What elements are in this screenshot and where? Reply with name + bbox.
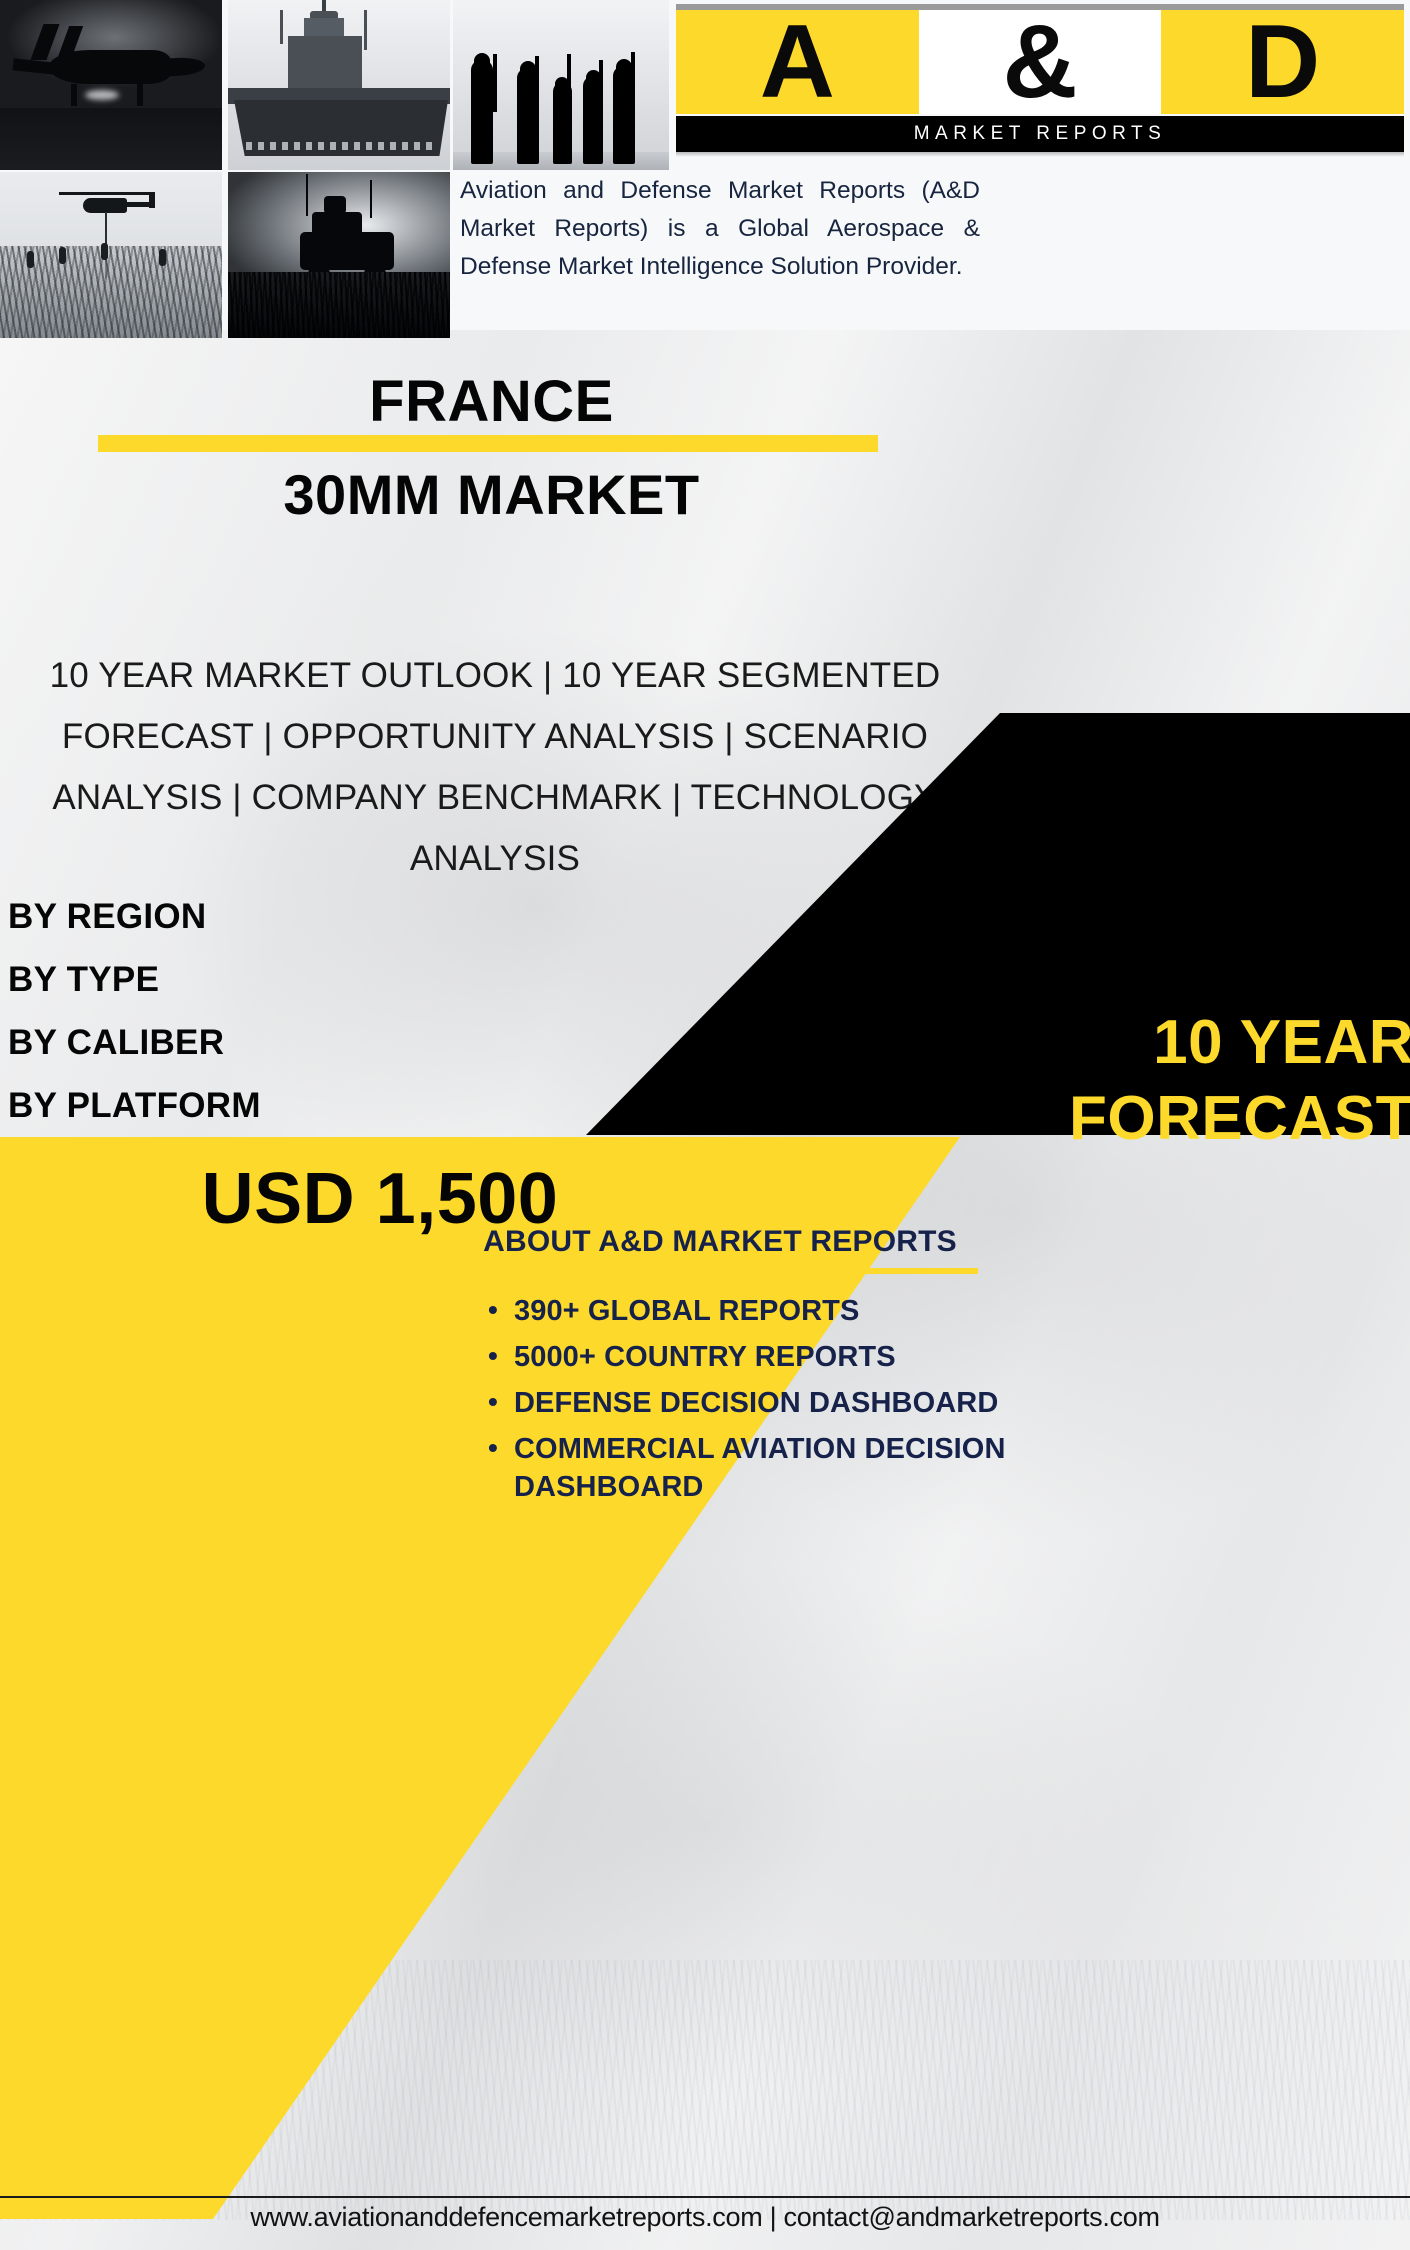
about-heading: ABOUT A&D MARKET REPORTS <box>455 1225 985 1259</box>
logo-block-a: A <box>676 10 919 114</box>
photo-helicopter-over-field <box>0 172 222 338</box>
brand-logo: A & D MARKET REPORTS <box>676 4 1404 152</box>
title-divider-rule <box>98 435 878 452</box>
photo-armored-vehicle-at-dusk <box>228 172 450 338</box>
forecast-badge-line1: 10 YEAR <box>784 1005 1410 1081</box>
about-divider-rule <box>458 1268 978 1274</box>
logo-letter-ampersand: & <box>1002 10 1077 114</box>
photo-fighter-jet-on-deck <box>0 0 222 170</box>
segmentation-item-caliber: BY CALIBER <box>8 1011 628 1074</box>
report-scope-text: 10 YEAR MARKET OUTLOOK | 10 YEAR SEGMENT… <box>30 645 960 889</box>
logo-subtitle-bar: MARKET REPORTS <box>676 116 1404 152</box>
photo-soldiers-silhouette <box>453 0 669 170</box>
logo-letter-blocks: A & D <box>676 10 1404 114</box>
photo-aircraft-carrier <box>228 0 450 170</box>
footer-divider <box>0 2196 1410 2198</box>
segmentation-item-region: BY REGION <box>8 885 628 948</box>
segmentation-list: BY REGION BY TYPE BY CALIBER BY PLATFORM <box>8 885 628 1137</box>
footer-contact[interactable]: www.aviationanddefencemarketreports.com … <box>0 2202 1410 2233</box>
logo-block-d: D <box>1161 10 1404 114</box>
about-bullet-global-reports: 390+ GLOBAL REPORTS <box>514 1292 1014 1330</box>
forecast-badge: 10 YEAR FORECAST <box>784 1005 1410 1157</box>
logo-letter-a: A <box>760 10 835 114</box>
about-bullet-country-reports: 5000+ COUNTRY REPORTS <box>514 1338 1014 1376</box>
segmentation-item-type: BY TYPE <box>8 948 628 1011</box>
page-title-country: FRANCE <box>0 368 983 435</box>
about-bullet-defense-dashboard: DEFENSE DECISION DASHBOARD <box>514 1384 1014 1422</box>
about-bullet-commercial-dashboard: COMMERCIAL AVIATION DECISION DASHBOARD <box>514 1430 1014 1506</box>
company-intro-text: Aviation and Defense Market Reports (A&D… <box>460 172 980 286</box>
logo-block-ampersand: & <box>919 10 1162 114</box>
report-cover-poster: A & D MARKET REPORTS Aviation and Defens… <box>0 0 1410 2250</box>
logo-letter-d: D <box>1245 10 1320 114</box>
about-bullet-list: 390+ GLOBAL REPORTS 5000+ COUNTRY REPORT… <box>488 1292 1014 1514</box>
logo-subtitle: MARKET REPORTS <box>914 123 1167 145</box>
page-title-market: 30MM MARKET <box>0 462 983 527</box>
logo-drop-shadow <box>676 152 1404 157</box>
segmentation-item-platform: BY PLATFORM <box>8 1074 628 1137</box>
